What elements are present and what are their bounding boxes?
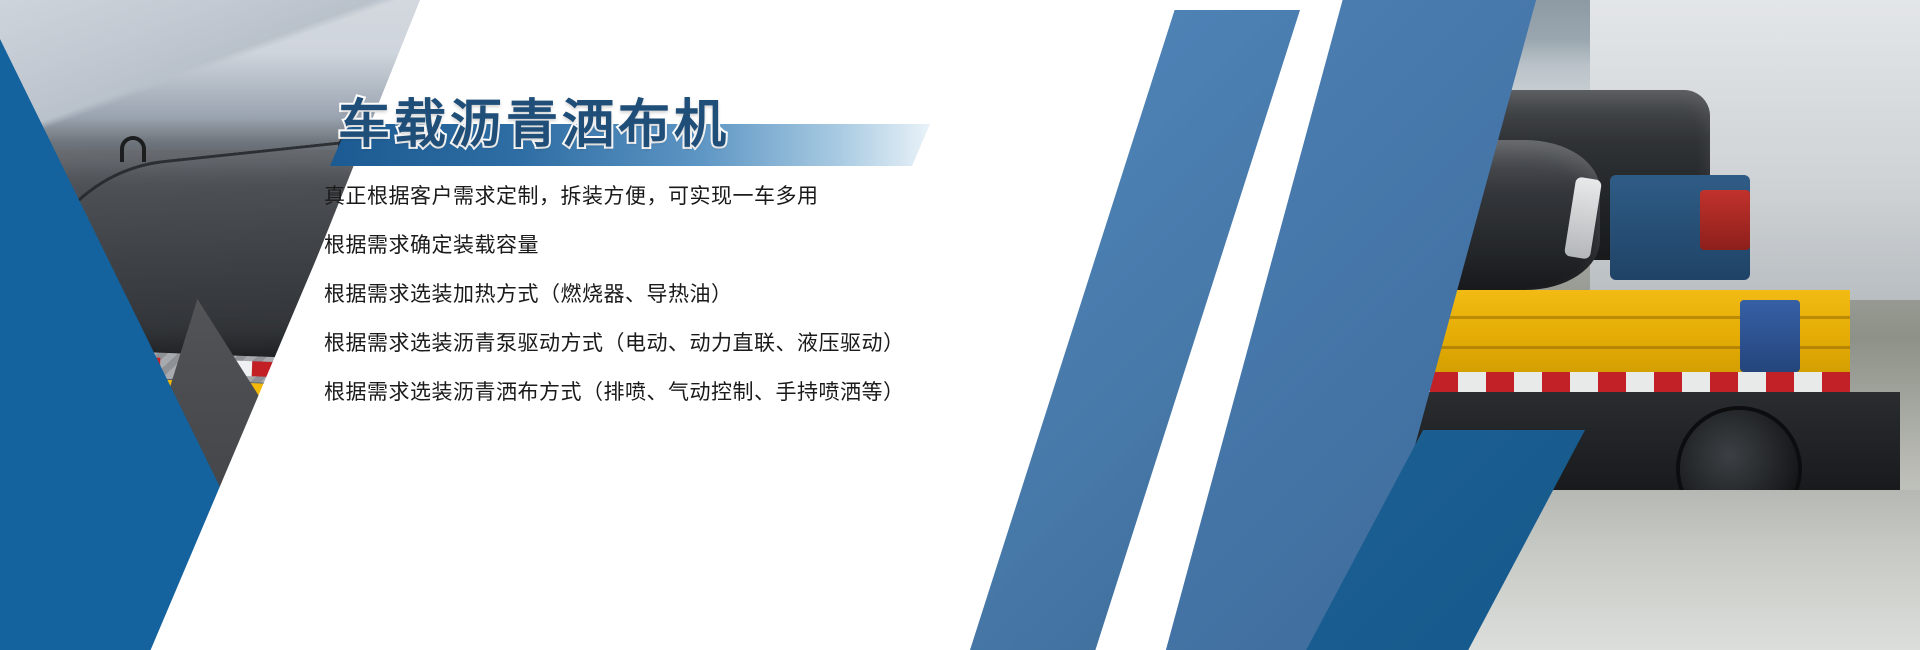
side-sign: [1740, 300, 1800, 372]
feature-list-item: 根据需求确定装载容量: [324, 235, 1024, 256]
product-banner: 沥青洒布车: [0, 0, 1920, 650]
feature-list-item: 根据需求选装沥青泵驱动方式（电动、动力直联、液压驱动）: [324, 333, 1024, 354]
engine-accessory: [1700, 190, 1750, 250]
tank-hook-icon: [120, 136, 146, 162]
page-title: 车载沥青洒布机: [338, 82, 730, 157]
feature-list-item: 根据需求选装沥青洒布方式（排喷、气动控制、手持喷洒等）: [324, 382, 1024, 403]
feature-list-item: 根据需求选装加热方式（燃烧器、导热油）: [324, 284, 1024, 305]
banner-title-block: 车载沥青洒布机: [330, 82, 950, 172]
feature-list-item: 真正根据客户需求定制，拆装方便，可实现一车多用: [324, 186, 1024, 207]
feature-list: 真正根据客户需求定制，拆装方便，可实现一车多用 根据需求确定装载容量 根据需求选…: [324, 186, 1024, 431]
